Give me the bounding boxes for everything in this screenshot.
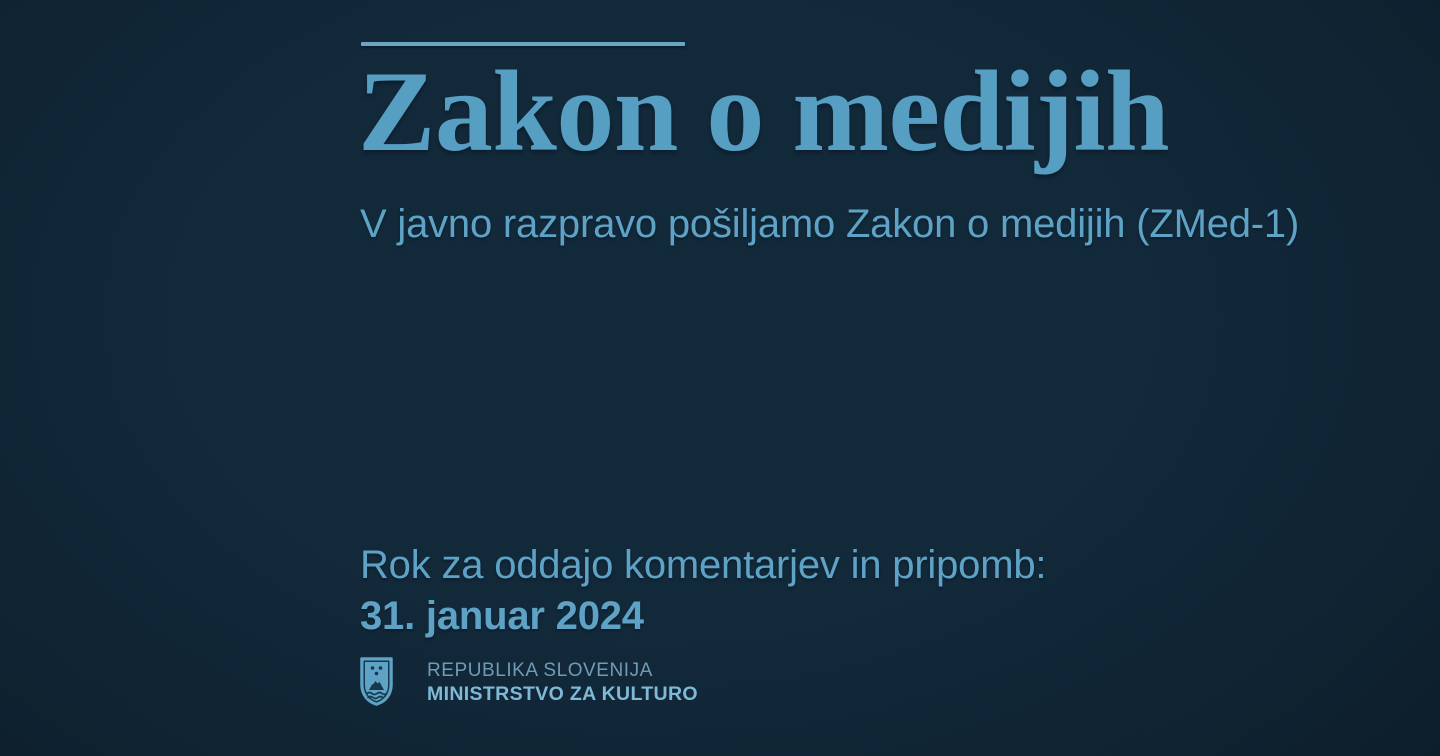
title-rule-divider: [361, 42, 685, 46]
poster-canvas: Zakon o medijih V javno razpravo pošilja…: [0, 0, 1440, 756]
deadline-label: Rok za oddajo komentarjev in pripomb:: [360, 540, 1260, 590]
page-title: Zakon o medijih: [358, 52, 1169, 174]
logo-ministry-label: MINISTRSTVO ZA KULTURO: [427, 682, 698, 706]
deadline-block: Rok za oddajo komentarjev in pripomb: 31…: [360, 540, 1260, 642]
ministry-logo-text: REPUBLIKA SLOVENIJA MINISTRSTVO ZA KULTU…: [427, 658, 698, 706]
deadline-date: 31. januar 2024: [360, 590, 1260, 642]
poster-content: Zakon o medijih V javno razpravo pošilja…: [0, 0, 1440, 756]
logo-country-label: REPUBLIKA SLOVENIJA: [427, 659, 698, 682]
ministry-logo-lockup: REPUBLIKA SLOVENIJA MINISTRSTVO ZA KULTU…: [360, 657, 698, 706]
page-subtitle: V javno razpravo pošiljamo Zakon o medij…: [360, 200, 1299, 248]
slovenia-coat-of-arms-icon: [360, 657, 393, 706]
